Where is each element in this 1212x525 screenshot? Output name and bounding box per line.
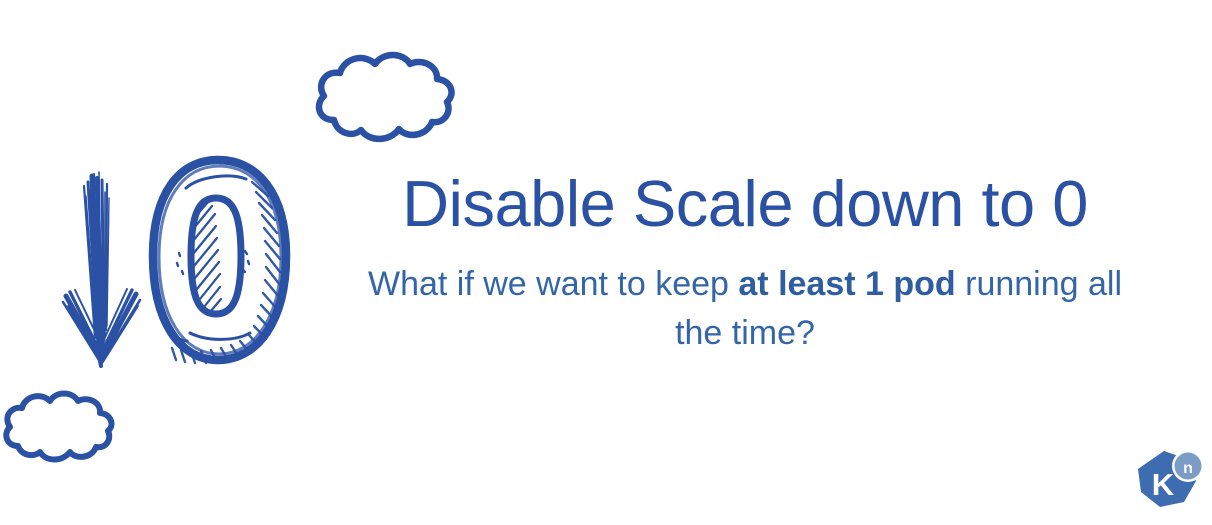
page-title: Disable Scale down to 0 <box>330 170 1160 238</box>
page-subtitle: What if we want to keep at least 1 pod r… <box>330 260 1160 357</box>
logo-primary-letter: K <box>1152 467 1175 502</box>
zero-sketch-icon <box>153 160 286 363</box>
headline-block: Disable Scale down to 0 What if we want … <box>330 170 1160 357</box>
subtitle-emphasis: at least 1 pod <box>738 265 955 303</box>
subtitle-part-1: What if we want to keep <box>368 265 738 303</box>
down-arrow-icon <box>63 172 140 366</box>
logo-badge-letter: n <box>1183 460 1193 477</box>
cloud-bottom-icon <box>6 394 111 460</box>
knative-logo: K n <box>1130 445 1206 521</box>
cloud-top-icon <box>319 55 452 139</box>
slide-canvas: Disable Scale down to 0 What if we want … <box>0 0 1212 525</box>
